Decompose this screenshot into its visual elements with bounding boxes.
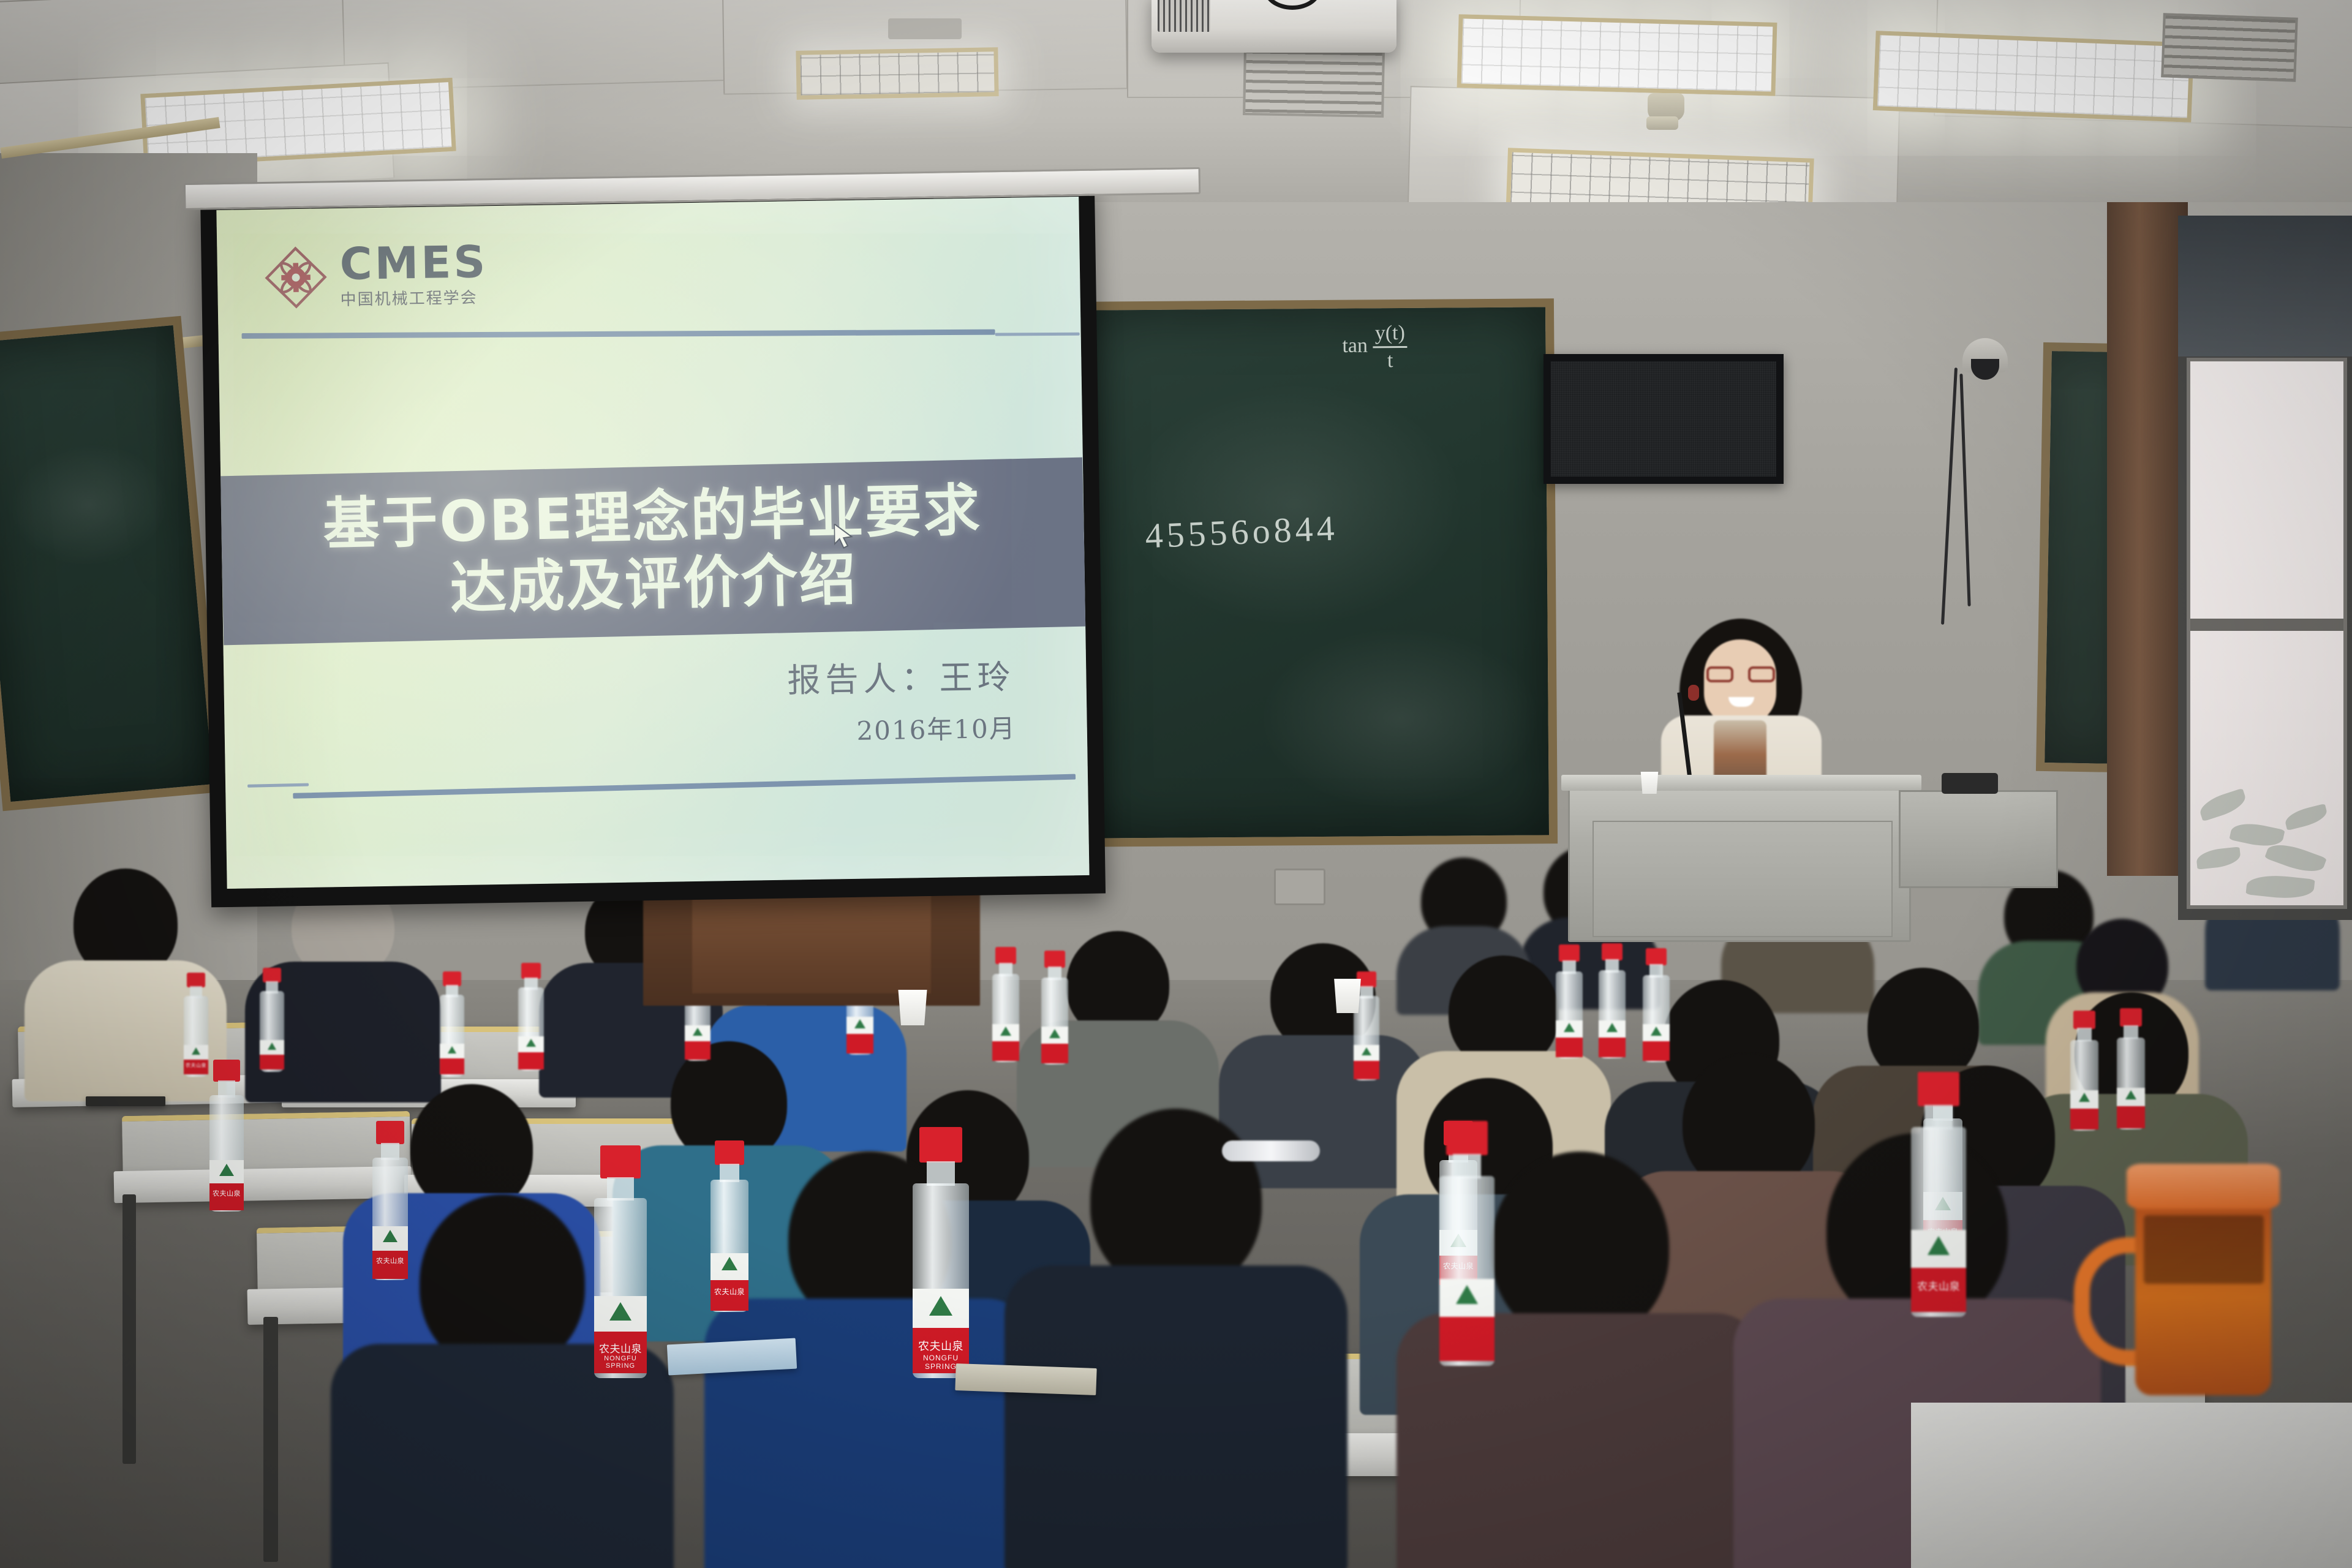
bottle-brand-cn: 农夫山泉 xyxy=(1911,1278,1966,1293)
projector-vent-icon xyxy=(1158,0,1210,32)
tumbler-lid xyxy=(2127,1164,2280,1209)
projector-lens-icon xyxy=(1263,0,1322,10)
cmes-logo: CMES 中国机械工程学会 xyxy=(262,241,488,311)
audience-member xyxy=(1005,1109,1347,1568)
window-mullion xyxy=(2190,619,2343,631)
slide-title-line-1: 基于OBE理念的毕业要求 xyxy=(322,478,982,559)
water-bottle[interactable] xyxy=(260,968,284,1072)
presenter-name: 报告人：王玲 xyxy=(787,650,1016,702)
water-bottle[interactable] xyxy=(1599,943,1626,1058)
chalkboard-fraction: tan y(t) t xyxy=(1342,322,1408,373)
roller-blind[interactable] xyxy=(2178,216,2352,356)
air-vent-grille xyxy=(1243,48,1385,118)
water-bottle[interactable]: 农夫山泉 NONGFU SPRING xyxy=(594,1145,647,1378)
ceiling-mount-bracket xyxy=(888,18,962,39)
water-bottle[interactable] xyxy=(2117,1008,2145,1129)
water-bottle[interactable] xyxy=(1643,948,1670,1062)
ceiling-light xyxy=(1457,14,1777,96)
bottle-brand-cn: 农夫山泉 xyxy=(372,1256,408,1265)
blackboard-center: tan y(t) t 45556o844 xyxy=(1076,298,1558,846)
presenter-face xyxy=(1704,639,1776,725)
chalkboard-number: 45556o844 xyxy=(1144,507,1339,556)
desk-leg xyxy=(263,1317,278,1562)
wall-junction-box xyxy=(1274,869,1325,905)
presentation-date: 2016年10月 xyxy=(788,708,1016,749)
wall-flat-panel-display xyxy=(1543,354,1784,484)
paper-cup xyxy=(1332,979,1363,1013)
divider-rule-top-stub xyxy=(995,333,1080,336)
ceiling-light xyxy=(796,47,998,100)
water-bottle[interactable] xyxy=(440,971,464,1077)
flower-gear-logo-icon xyxy=(262,244,330,311)
water-bottle[interactable]: 农夫山泉 xyxy=(710,1140,748,1312)
presentation-slide: CMES 中国机械工程学会 基于OBE理念的毕业要求 达成及评价介绍 报告人：王… xyxy=(216,197,1089,889)
water-bottle[interactable]: 农夫山泉 xyxy=(209,1060,244,1212)
cmes-chinese-name: 中国机械工程学会 xyxy=(340,285,488,310)
eyeglasses-icon xyxy=(1706,666,1775,682)
projector: EPSON xyxy=(1151,0,1396,53)
podium-front-panel xyxy=(1593,821,1893,937)
divider-rule-bottom-stub xyxy=(247,783,309,788)
paper-cup xyxy=(895,990,930,1025)
cmes-acronym: CMES xyxy=(339,242,488,285)
lecture-hall-scene: EPSON tan y(t) t 45556o844 xyxy=(0,0,2352,1568)
water-bottle[interactable]: 农夫山泉 NONGFU SPRING xyxy=(913,1127,969,1378)
ceiling-light xyxy=(1873,31,2195,123)
chalk-denominator: t xyxy=(1387,349,1393,372)
presenter-info: 报告人：王玲 2016年10月 xyxy=(787,650,1016,749)
window xyxy=(2178,216,2352,920)
air-vent-grille xyxy=(2161,13,2298,82)
paper-cup xyxy=(1639,772,1660,794)
wall-pillar xyxy=(2107,202,2188,876)
smoke-detector-base xyxy=(1646,116,1678,130)
bottle-brand-cn: 农夫山泉 xyxy=(710,1286,748,1297)
water-bottle[interactable] xyxy=(1439,1121,1494,1366)
slide-title-line-2: 达成及评价介绍 xyxy=(450,547,858,622)
divider-rule-bottom xyxy=(293,774,1076,799)
bottle-brand-cn: 农夫山泉 xyxy=(209,1188,244,1198)
water-bottle[interactable] xyxy=(518,963,544,1071)
podium-side-table xyxy=(1899,790,2058,888)
notebook xyxy=(955,1363,1096,1395)
front-desk-surface xyxy=(1911,1403,2352,1568)
water-bottle[interactable] xyxy=(1041,951,1068,1065)
water-bottle[interactable] xyxy=(1556,944,1583,1058)
microphone-icon xyxy=(1688,685,1699,701)
chalk-numerator: y(t) xyxy=(1375,322,1405,344)
desk-device xyxy=(1942,773,1998,794)
stylus-pen xyxy=(86,1096,165,1106)
divider-rule-top xyxy=(242,330,995,339)
projection-screen: CMES 中国机械工程学会 基于OBE理念的毕业要求 达成及评价介绍 报告人：王… xyxy=(200,183,1106,908)
desk-leg xyxy=(123,1194,136,1464)
window-glass xyxy=(2187,358,2347,909)
hair-clip xyxy=(1222,1140,1320,1161)
ceiling-tile xyxy=(342,0,736,91)
bottle-brand-cn: 农夫山泉 xyxy=(184,1062,208,1069)
orange-tumbler[interactable] xyxy=(2127,1164,2280,1427)
water-bottle[interactable]: 农夫山泉 xyxy=(184,973,208,1077)
water-bottle[interactable] xyxy=(2070,1011,2098,1131)
lectern-panel xyxy=(692,889,931,993)
dome-camera-icon xyxy=(1955,325,2014,388)
bottle-brand-cn: 农夫山泉 xyxy=(913,1338,969,1354)
tumbler-window xyxy=(2144,1215,2264,1284)
water-bottle[interactable] xyxy=(992,947,1019,1062)
chalk-prefix: tan xyxy=(1342,334,1368,357)
tree-foliage xyxy=(2193,722,2346,905)
bottle-brand-en: NONGFU SPRING xyxy=(594,1355,647,1370)
slide-title-band: 基于OBE理念的毕业要求 达成及评价介绍 xyxy=(220,458,1086,646)
water-bottle[interactable]: 农夫山泉 xyxy=(1911,1072,1966,1317)
water-bottle[interactable]: 农夫山泉 xyxy=(372,1121,408,1280)
bottle-brand-cn: 农夫山泉 xyxy=(594,1340,647,1355)
